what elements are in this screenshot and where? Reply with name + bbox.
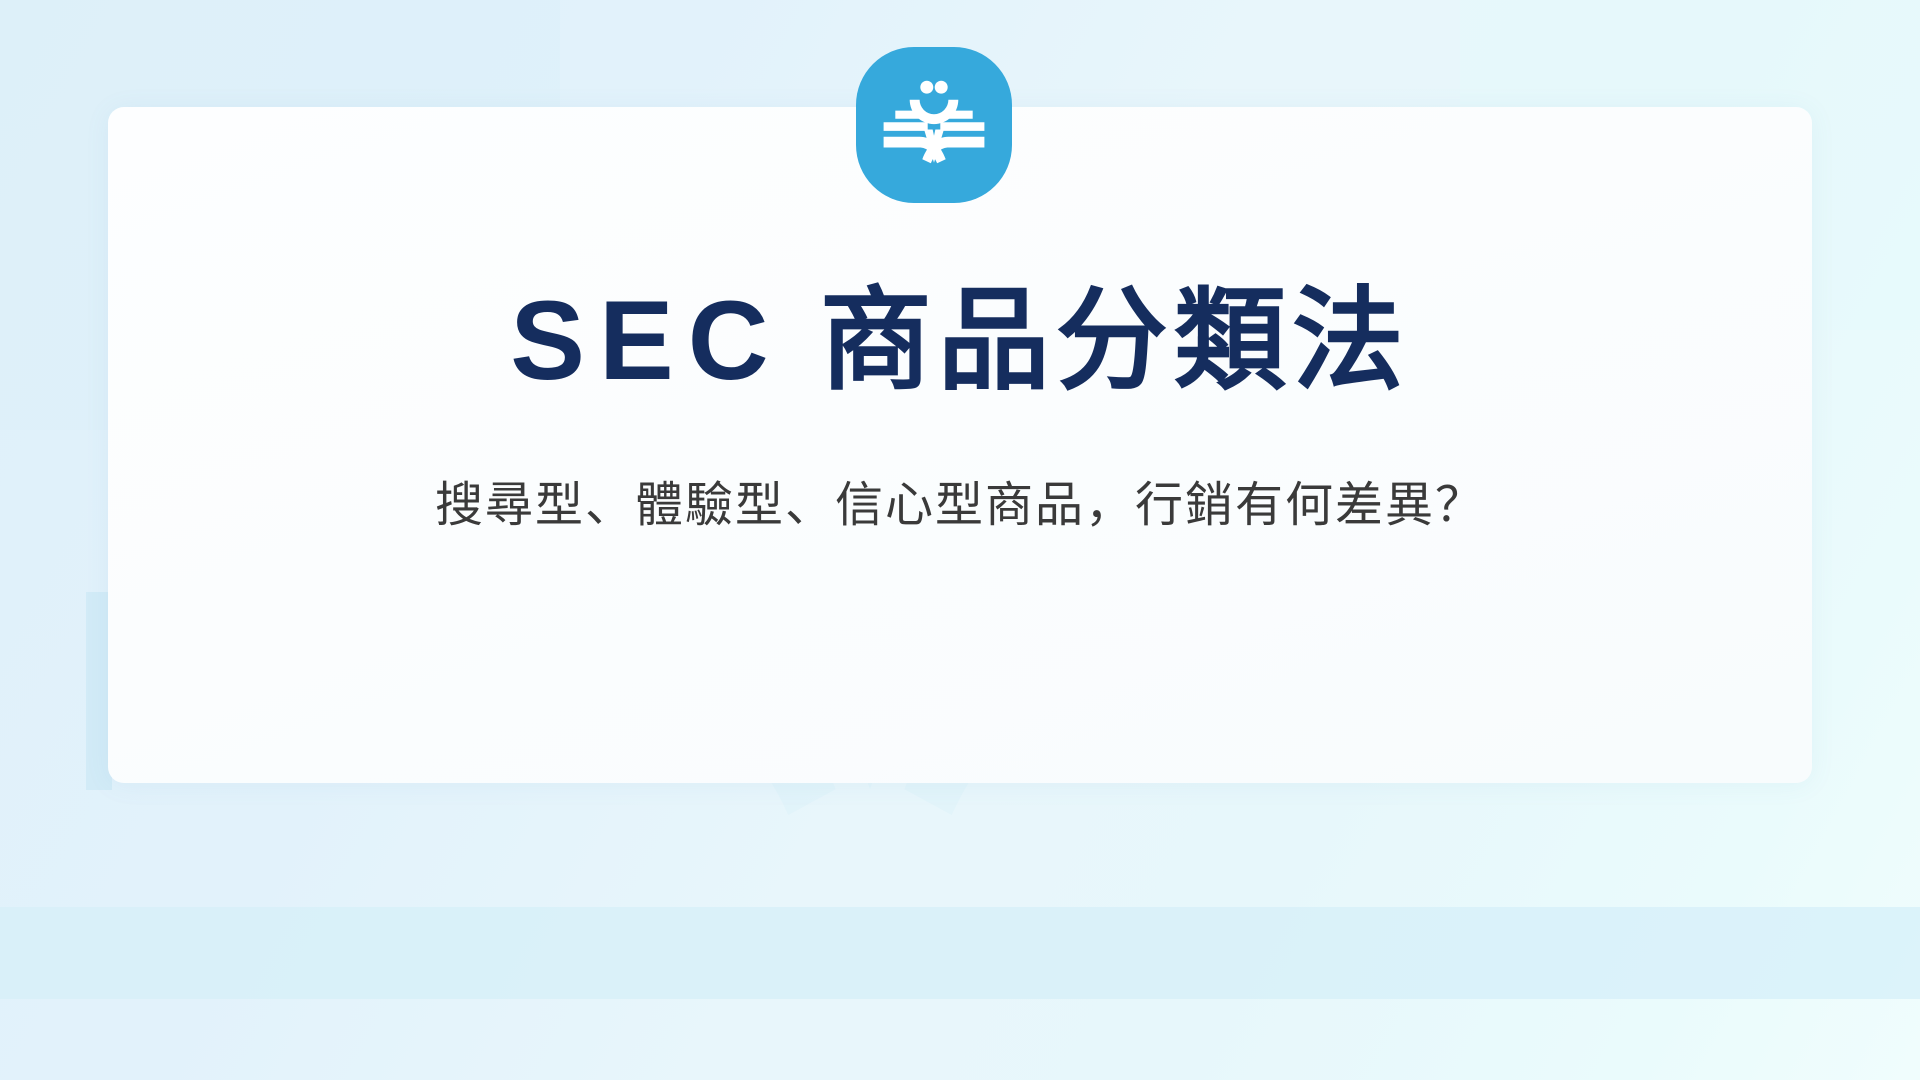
open-book-reader-icon: [880, 77, 988, 173]
decorative-band-bottom: [0, 907, 1920, 999]
slide-canvas: SEC 商品分類法 搜尋型、體驗型、信心型商品，行銷有何差異？: [0, 0, 1920, 1080]
brand-logo-badge: [856, 47, 1012, 203]
page-title-latin: SEC: [510, 278, 782, 403]
page-title-cjk: 商品分類法: [820, 278, 1410, 403]
card-text-block: SEC 商品分類法 搜尋型、體驗型、信心型商品，行銷有何差異？: [108, 107, 1812, 783]
page-subtitle: 搜尋型、體驗型、信心型商品，行銷有何差異？: [435, 472, 1485, 539]
page-title: SEC 商品分類法: [510, 277, 1409, 406]
